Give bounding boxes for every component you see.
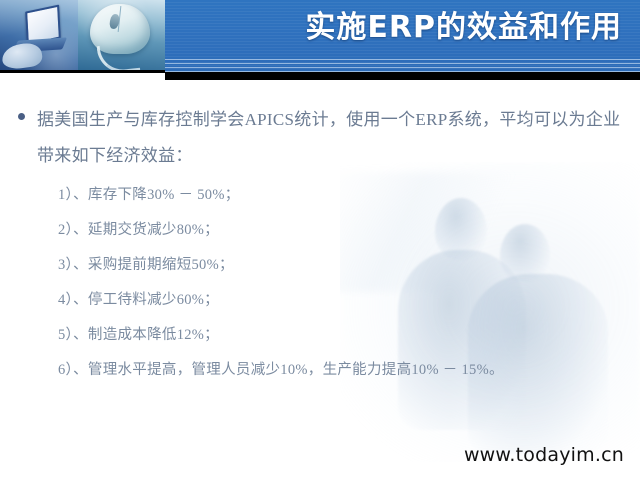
photo-strip-underline bbox=[0, 70, 165, 73]
computer-mouse-photo-image bbox=[78, 0, 165, 70]
list-item: 1）、库存下降30% － 50%； bbox=[58, 178, 624, 213]
list-item: 6）、管理水平提高，管理人员减少10%，生产能力提高10% － 15%。 bbox=[58, 353, 624, 388]
slide-header: 实施ERP的效益和作用 bbox=[0, 0, 640, 80]
slide-body: 据美国生产与库存控制学会APICS统计，使用一个ERP系统，平均可以为企业带来如… bbox=[0, 80, 640, 480]
page-title: 实施ERP的效益和作用 bbox=[165, 6, 622, 50]
list-item: 5）、制造成本降低12%； bbox=[58, 318, 624, 353]
laptop-photo-image bbox=[0, 0, 78, 70]
lead-paragraph-text: 据美国生产与库存控制学会APICS统计，使用一个ERP系统，平均可以为企业带来如… bbox=[37, 102, 622, 174]
title-banner-underbar bbox=[165, 72, 640, 80]
title-banner: 实施ERP的效益和作用 bbox=[165, 0, 640, 72]
bullet-dot-icon bbox=[18, 113, 25, 120]
list-item: 2）、延期交货减少80%； bbox=[58, 213, 624, 248]
list-item: 4）、停工待料减少60%； bbox=[58, 283, 624, 318]
benefits-list: 1）、库存下降30% － 50%； 2）、延期交货减少80%； 3）、采购提前期… bbox=[58, 178, 624, 388]
lead-paragraph: 据美国生产与库存控制学会APICS统计，使用一个ERP系统，平均可以为企业带来如… bbox=[18, 102, 622, 174]
presentation-slide: 实施ERP的效益和作用 据美国生产与库存控制学会APICS统计，使用一个ERP系… bbox=[0, 0, 640, 480]
list-item: 3）、采购提前期缩短50%； bbox=[58, 248, 624, 283]
site-url-watermark: www.todayim.cn bbox=[464, 444, 624, 466]
banner-stripe-pattern bbox=[165, 56, 640, 72]
